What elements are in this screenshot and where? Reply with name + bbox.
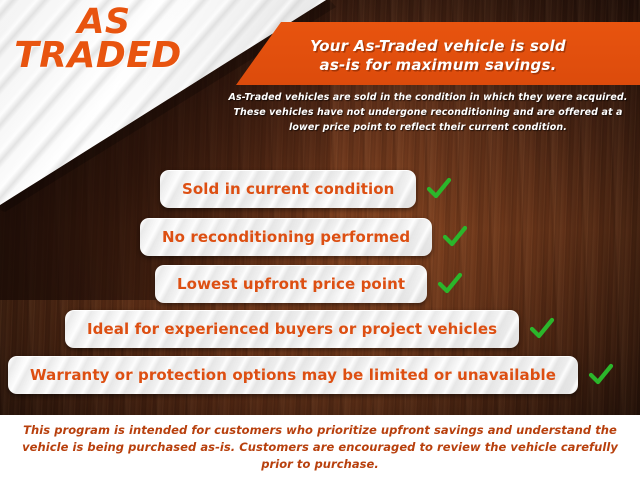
subheading-paragraph: As-Traded vehicles are sold in the condi…: [222, 90, 634, 135]
check-icon: [442, 224, 468, 250]
bullet-row-4: Ideal for experienced buyers or project …: [65, 310, 555, 348]
check-icon: [437, 271, 463, 297]
bullet-row-1: Sold in current condition: [160, 170, 452, 208]
headline-banner: [236, 22, 640, 85]
check-icon: [426, 176, 452, 202]
bullet-pill-2[interactable]: No reconditioning performed: [140, 218, 432, 256]
bullet-pill-1[interactable]: Sold in current condition: [160, 170, 416, 208]
bullet-row-3: Lowest upfront price point: [155, 265, 463, 303]
bullet-row-2: No reconditioning performed: [140, 218, 468, 256]
bullet-label-4: Ideal for experienced buyers or project …: [87, 320, 497, 338]
bullet-row-5: Warranty or protection options may be li…: [8, 356, 614, 394]
bullet-label-5: Warranty or protection options may be li…: [30, 366, 556, 384]
bullet-pill-4[interactable]: Ideal for experienced buyers or project …: [65, 310, 519, 348]
bullet-pill-3[interactable]: Lowest upfront price point: [155, 265, 427, 303]
bullet-label-1: Sold in current condition: [182, 180, 394, 198]
check-icon: [588, 362, 614, 388]
bullet-pill-5[interactable]: Warranty or protection options may be li…: [8, 356, 578, 394]
footer-band: This program is intended for customers w…: [0, 415, 640, 480]
bullet-label-3: Lowest upfront price point: [177, 275, 405, 293]
slide-root: AS TRADED Your As-Traded vehicle is sold…: [0, 0, 640, 480]
footer-disclaimer: This program is intended for customers w…: [14, 422, 626, 473]
check-icon: [529, 316, 555, 342]
bullet-label-2: No reconditioning performed: [162, 228, 410, 246]
